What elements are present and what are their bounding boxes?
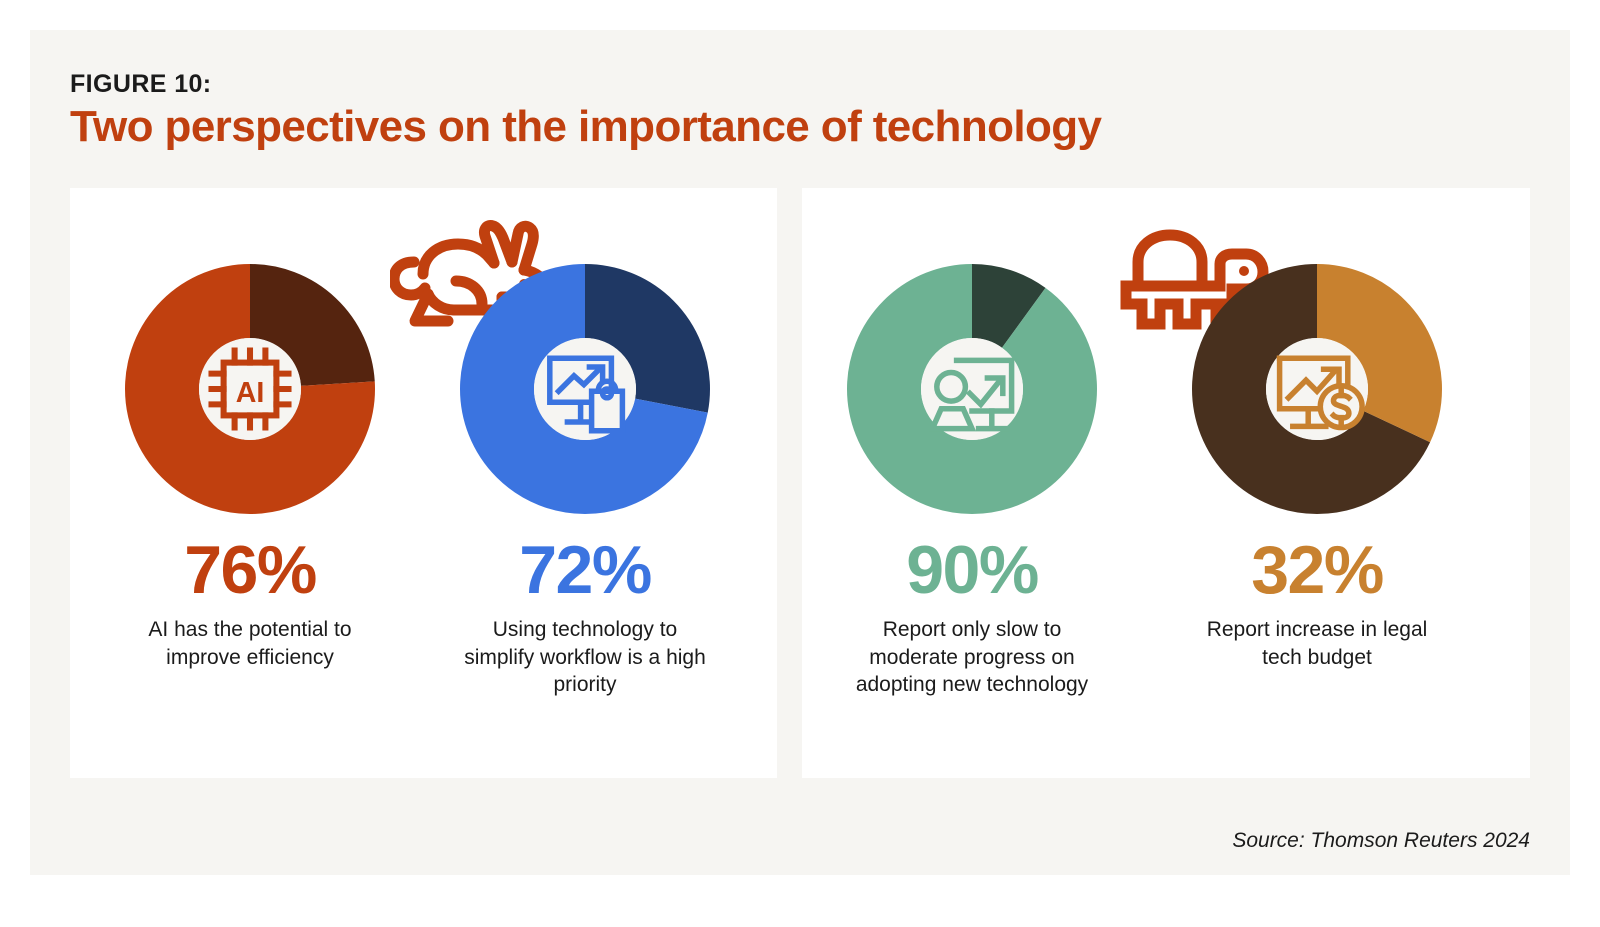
donut-chart-budget (1192, 264, 1442, 514)
stat-ai: AI 76% AI has the potential to improve e… (100, 264, 400, 671)
donut-chart-progress (847, 264, 1097, 514)
stat-caption-progress: Report only slow to moderate progress on… (822, 616, 1122, 699)
panel-fast-adopters: AI 76% AI has the potential to improve e… (70, 188, 777, 778)
ai-chip-icon: AI (195, 334, 305, 444)
stat-value-workflow: 72% (435, 536, 735, 604)
figure-label: FIGURE 10: (70, 70, 212, 99)
figure-container: FIGURE 10: Two perspectives on the impor… (30, 30, 1570, 875)
svg-text:AI: AI (236, 377, 265, 409)
stat-value-ai: 76% (100, 536, 400, 604)
stat-workflow: 72% Using technology to simplify workflo… (435, 264, 735, 699)
person-presentation-icon (917, 334, 1027, 444)
stat-caption-workflow: Using technology to simplify workflow is… (435, 616, 735, 699)
donut-chart-ai: AI (125, 264, 375, 514)
donut-chart-workflow (460, 264, 710, 514)
stat-value-progress: 90% (822, 536, 1122, 604)
stat-value-budget: 32% (1167, 536, 1467, 604)
stat-progress: 90% Report only slow to moderate progres… (822, 264, 1122, 699)
stat-caption-ai: AI has the potential to improve efficien… (100, 616, 400, 671)
presentation-chart-briefcase-icon (530, 334, 640, 444)
stat-caption-budget: Report increase in legal tech budget (1167, 616, 1467, 671)
figure-title: Two perspectives on the importance of te… (70, 102, 1101, 152)
chart-dollar-icon (1262, 334, 1372, 444)
panel-slow-adopters: 90% Report only slow to moderate progres… (802, 188, 1530, 778)
stat-budget: 32% Report increase in legal tech budget (1167, 264, 1467, 671)
source-attribution: Source: Thomson Reuters 2024 (1232, 829, 1530, 853)
